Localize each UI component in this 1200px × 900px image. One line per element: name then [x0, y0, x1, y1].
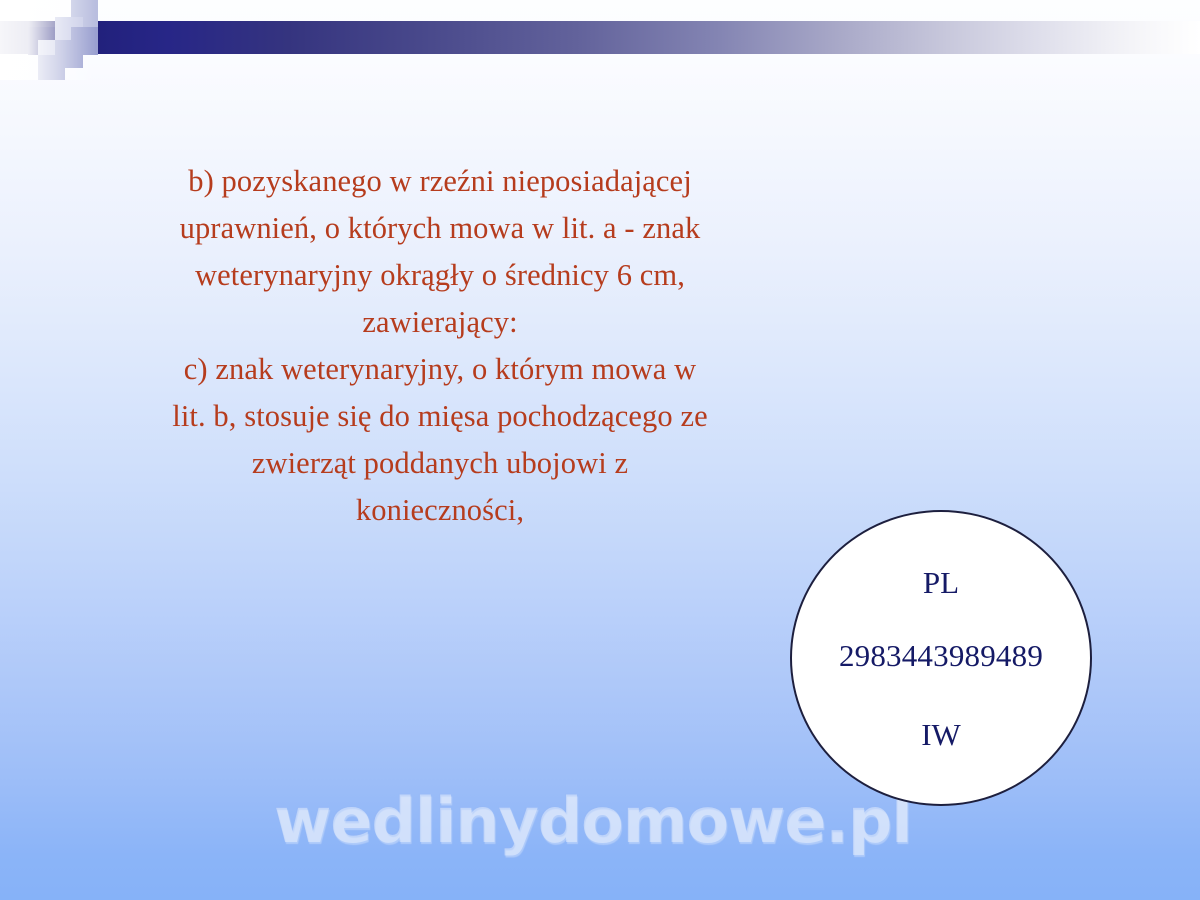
veterinary-stamp-circle: PL 2983443989489 IW — [790, 510, 1092, 806]
body-line: b) pozyskanego w rzeźni nieposiadającej — [60, 158, 820, 205]
slide-canvas: b) pozyskanego w rzeźni nieposiadającej … — [0, 0, 1200, 900]
stamp-country-code: PL — [923, 567, 959, 598]
body-line: c) znak weterynaryjny, o którym mowa w — [60, 346, 820, 393]
body-line: konieczności, — [60, 487, 820, 534]
square-mid-3 — [38, 55, 65, 80]
body-line: zawierający: — [60, 299, 820, 346]
watermark-text: wedlinydomowe.pl — [274, 786, 974, 856]
body-line: lit. b, stosuje się do mięsa pochodząceg… — [60, 393, 820, 440]
slide-body-text: b) pozyskanego w rzeźni nieposiadającej … — [60, 158, 820, 534]
body-line: uprawnień, o których mowa w lit. a - zna… — [60, 205, 820, 252]
body-line: zwierząt poddanych ubojowi z — [60, 440, 820, 487]
stamp-number: 2983443989489 — [839, 640, 1043, 671]
header-decoration-squares — [0, 0, 220, 80]
stamp-authority: IW — [921, 719, 961, 750]
body-line: weterynaryjny okrągły o średnicy 6 cm, — [60, 252, 820, 299]
